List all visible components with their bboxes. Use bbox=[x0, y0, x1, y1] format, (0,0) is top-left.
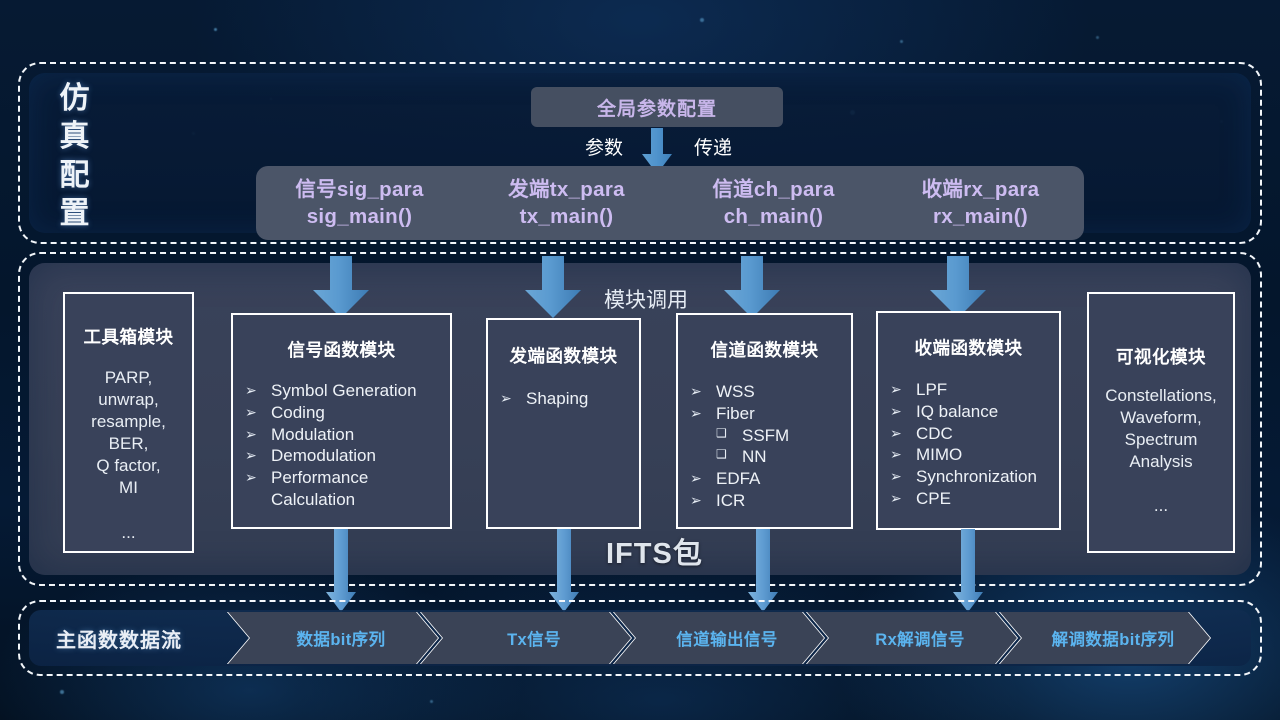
arrow-bullet-icon: ➢ bbox=[690, 403, 716, 423]
module-call-arrow-icon bbox=[724, 256, 780, 318]
list-item: ➢Synchronization bbox=[890, 466, 1059, 488]
module-box-toolbox[interactable]: 工具箱模块 PARP, unwrap, resample, BER, Q fac… bbox=[63, 292, 194, 553]
list-item: ➢Modulation bbox=[245, 424, 450, 446]
module-title: 发端函数模块 bbox=[488, 343, 639, 368]
module-call-arrow-icon bbox=[313, 256, 369, 318]
flow-step-4[interactable]: Rx解调信号 bbox=[807, 612, 1017, 664]
simulation-config-label: 仿真配置 bbox=[52, 80, 98, 234]
list-item: ➢CPE bbox=[890, 488, 1059, 510]
list-item: ➢LPF bbox=[890, 379, 1059, 401]
module-body-text: PARP, unwrap, resample, BER, Q factor, M… bbox=[65, 367, 192, 544]
param-line-2: ch_main() bbox=[724, 203, 824, 230]
main-function-dataflow-label: 主函数数据流 bbox=[56, 624, 182, 653]
module-call-arrow-icon bbox=[930, 256, 986, 318]
arrow-bullet-icon: ➢ bbox=[245, 380, 271, 400]
list-item-label: Modulation bbox=[271, 424, 354, 446]
module-box-rx[interactable]: 收端函数模块 ➢LPF ➢IQ balance ➢CDC ➢MIMO ➢Sync… bbox=[876, 311, 1061, 530]
module-box-signal[interactable]: 信号函数模块 ➢Symbol Generation ➢Coding ➢Modul… bbox=[231, 313, 452, 529]
list-item: ➢ICR bbox=[690, 490, 851, 512]
arrow-bullet-icon: ➢ bbox=[690, 490, 716, 510]
param-line-2: rx_main() bbox=[933, 203, 1028, 230]
arrow-bullet-icon: ➢ bbox=[890, 466, 916, 486]
module-title: 信号函数模块 bbox=[233, 337, 450, 362]
arrow-bullet-icon: ➢ bbox=[690, 381, 716, 401]
module-title: 工具箱模块 bbox=[65, 324, 192, 349]
param-line-1: 发端tx_para bbox=[508, 176, 625, 203]
module-box-visualization[interactable]: 可视化模块 Constellations, Waveform, Spectrum… bbox=[1087, 292, 1235, 553]
module-title: 收端函数模块 bbox=[878, 335, 1059, 360]
decor-spark bbox=[430, 700, 433, 703]
list-item: ➢Performance bbox=[245, 467, 450, 489]
list-item-label: EDFA bbox=[716, 468, 760, 490]
module-call-arrow-icon bbox=[525, 256, 581, 318]
arrow-bullet-icon: ➢ bbox=[890, 444, 916, 464]
list-item: ➢IQ balance bbox=[890, 401, 1059, 423]
param-line-2: tx_main() bbox=[520, 203, 614, 230]
param-cell-signal[interactable]: 信号sig_para sig_main() bbox=[256, 166, 463, 240]
param-cell-tx[interactable]: 发端tx_para tx_main() bbox=[463, 166, 670, 240]
list-item-label: LPF bbox=[916, 379, 947, 401]
list-item: ➢MIMO bbox=[890, 444, 1059, 466]
module-title: 可视化模块 bbox=[1089, 344, 1233, 369]
ifts-package-label: IFTS包 bbox=[606, 530, 703, 572]
param-line-1: 收端rx_para bbox=[922, 176, 1040, 203]
diagram-canvas: 仿真配置 全局参数配置 参数 传递 信号sig_para sig_main() … bbox=[0, 0, 1280, 720]
module-title: 信道函数模块 bbox=[678, 337, 851, 362]
arrow-bullet-icon: ➢ bbox=[500, 388, 526, 408]
param-cell-rx[interactable]: 收端rx_para rx_main() bbox=[877, 166, 1084, 240]
flow-step-1[interactable]: 数据bit序列 bbox=[228, 612, 438, 664]
list-item-sub: ❑SSFM bbox=[690, 425, 851, 447]
arrow-bullet-icon: ➢ bbox=[890, 423, 916, 443]
decor-spark bbox=[214, 28, 217, 31]
list-item: ➢WSS bbox=[690, 381, 851, 403]
list-item-continuation: Calculation bbox=[245, 489, 450, 511]
param-line-2: sig_main() bbox=[307, 203, 413, 230]
arrow-bullet-icon: ➢ bbox=[890, 379, 916, 399]
list-item-label: Demodulation bbox=[271, 445, 376, 467]
module-body-text: Constellations, Waveform, Spectrum Analy… bbox=[1089, 385, 1233, 518]
list-item-label: Symbol Generation bbox=[271, 380, 417, 402]
list-item: ➢Shaping bbox=[500, 388, 639, 410]
global-parameter-config-box[interactable]: 全局参数配置 bbox=[531, 87, 783, 127]
list-item-label: Performance bbox=[271, 467, 368, 489]
list-item-label: IQ balance bbox=[916, 401, 998, 423]
decor-spark bbox=[900, 40, 903, 43]
list-item-label: ICR bbox=[716, 490, 745, 512]
square-bullet-icon: ❑ bbox=[716, 425, 742, 442]
module-call-label: 模块调用 bbox=[604, 284, 688, 314]
flow-step-2[interactable]: Tx信号 bbox=[421, 612, 631, 664]
param-cell-channel[interactable]: 信道ch_para ch_main() bbox=[670, 166, 877, 240]
module-box-channel[interactable]: 信道函数模块 ➢WSS ➢Fiber ❑SSFM ❑NN ➢EDFA ➢ICR bbox=[676, 313, 853, 529]
list-item-label: CPE bbox=[916, 488, 951, 510]
arrow-bullet-icon: ➢ bbox=[690, 468, 716, 488]
list-item-label: WSS bbox=[716, 381, 755, 403]
list-item: ➢CDC bbox=[890, 423, 1059, 445]
square-bullet-icon: ❑ bbox=[716, 446, 742, 463]
param-word-label: 参数 bbox=[585, 133, 623, 160]
list-item: ➢Symbol Generation bbox=[245, 380, 450, 402]
param-line-1: 信道ch_para bbox=[712, 176, 834, 203]
list-item-label: Fiber bbox=[716, 403, 755, 425]
module-item-list: ➢WSS ➢Fiber ❑SSFM ❑NN ➢EDFA ➢ICR bbox=[678, 381, 851, 512]
list-item-label: Shaping bbox=[526, 388, 588, 410]
list-item-label: NN bbox=[742, 446, 767, 468]
module-box-tx[interactable]: 发端函数模块 ➢Shaping bbox=[486, 318, 641, 529]
arrow-bullet-icon: ➢ bbox=[245, 467, 271, 487]
list-item-sub: ❑NN bbox=[690, 446, 851, 468]
list-item-label: MIMO bbox=[916, 444, 962, 466]
arrow-bullet-icon: ➢ bbox=[245, 445, 271, 465]
module-item-list: ➢Shaping bbox=[488, 388, 639, 410]
list-item: ➢EDFA bbox=[690, 468, 851, 490]
module-item-list: ➢Symbol Generation ➢Coding ➢Modulation ➢… bbox=[233, 380, 450, 511]
parameter-module-row: 信号sig_para sig_main() 发端tx_para tx_main(… bbox=[256, 166, 1084, 240]
arrow-bullet-icon: ➢ bbox=[890, 401, 916, 421]
list-item: ➢Demodulation bbox=[245, 445, 450, 467]
list-item-label: Calculation bbox=[245, 489, 355, 511]
list-item-label: SSFM bbox=[742, 425, 789, 447]
transfer-word-label: 传递 bbox=[694, 133, 732, 160]
list-item: ➢Coding bbox=[245, 402, 450, 424]
flow-step-5[interactable]: 解调数据bit序列 bbox=[1000, 612, 1210, 664]
list-item-label: Coding bbox=[271, 402, 325, 424]
module-item-list: ➢LPF ➢IQ balance ➢CDC ➢MIMO ➢Synchroniza… bbox=[878, 379, 1059, 510]
decor-spark bbox=[1096, 36, 1099, 39]
param-line-1: 信号sig_para bbox=[295, 176, 423, 203]
flow-step-3[interactable]: 信道输出信号 bbox=[614, 612, 824, 664]
arrow-bullet-icon: ➢ bbox=[245, 402, 271, 422]
list-item-label: CDC bbox=[916, 423, 953, 445]
decor-spark bbox=[700, 18, 704, 22]
arrow-bullet-icon: ➢ bbox=[890, 488, 916, 508]
list-item: ➢Fiber bbox=[690, 403, 851, 425]
list-item-label: Synchronization bbox=[916, 466, 1037, 488]
arrow-bullet-icon: ➢ bbox=[245, 424, 271, 444]
decor-spark bbox=[60, 690, 64, 694]
